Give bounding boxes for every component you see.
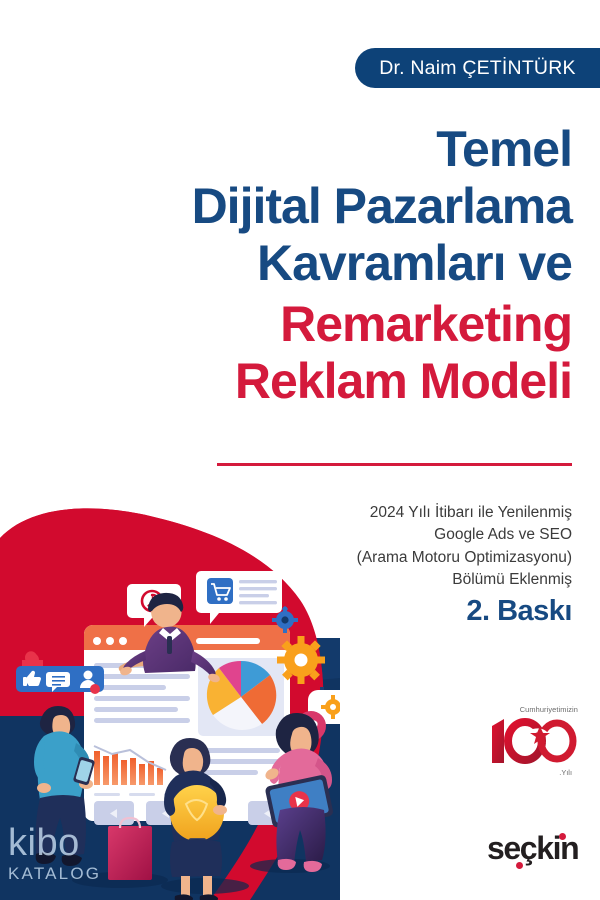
centenary-bottom-text: .Yılı: [559, 768, 572, 777]
shopping-bag: [108, 818, 152, 880]
title-line-4: Remarketing: [24, 299, 572, 350]
publisher-dot-icon: [559, 833, 566, 840]
title-line-5: Reklam Modeli: [24, 356, 572, 407]
title-line-3: Kavramları ve: [24, 238, 572, 289]
author-name: Dr. Naim ÇETİNTÜRK: [379, 57, 575, 80]
digital-marketing-illustration: [0, 508, 340, 900]
author-banner: Dr. Naim ÇETİNTÜRK: [355, 48, 600, 88]
page-title: Temel Dijital Pazarlama Kavramları ve Re…: [24, 124, 572, 407]
pie-chart: [207, 661, 276, 730]
title-line-2: Dijital Pazarlama: [24, 181, 572, 232]
title-line-1: Temel: [24, 124, 572, 175]
publisher-logo: seçkin: [487, 832, 587, 868]
title-divider: [217, 463, 572, 466]
book-cover: Dr. Naim ÇETİNTÜRK Temel Dijital Pazarla…: [0, 0, 600, 900]
edition-label: 2. Baskı: [466, 595, 572, 628]
centenary-top-text: Cumhuriyetimizin: [520, 705, 578, 714]
publisher-name: seçkin: [487, 832, 587, 864]
centenary-logo: Cumhuriyetimizin .Yılı: [488, 705, 580, 777]
centenary-number-icon: [488, 716, 580, 771]
publisher-cedilla-icon: [516, 862, 523, 869]
